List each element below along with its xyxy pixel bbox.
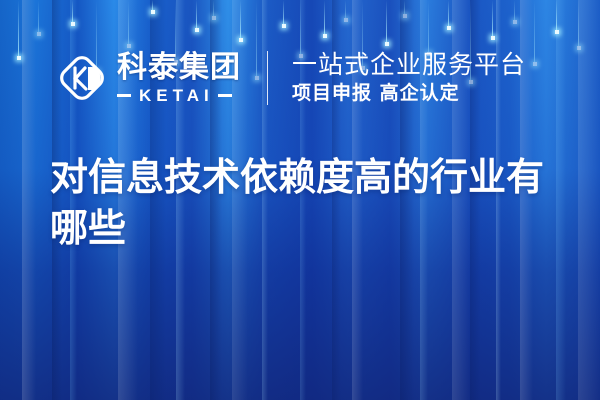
- brand-dash-left-icon: [117, 94, 131, 97]
- light-streak: [448, 0, 449, 28]
- brand-header: 科泰集团 KETAI 一站式企业服务平台 项目申报 高企认定: [56, 46, 526, 110]
- promo-banner: 科泰集团 KETAI 一站式企业服务平台 项目申报 高企认定 对信息技术依赖度高…: [0, 0, 600, 400]
- light-streak-dot: [403, 14, 407, 18]
- light-streak-dot: [344, 18, 348, 22]
- light-streak: [324, 0, 325, 36]
- tagline-secondary: 项目申报 高企认定: [292, 83, 526, 105]
- tagline-primary: 一站式企业服务平台: [292, 51, 526, 79]
- light-streak-dot: [282, 24, 286, 28]
- light-streak-dot: [239, 38, 243, 42]
- light-streak: [404, 0, 405, 16]
- light-streak: [213, 0, 214, 18]
- brand-dash-right-icon: [218, 94, 232, 97]
- page-title: 对信息技术依赖度高的行业有哪些: [50, 153, 562, 254]
- light-streak: [196, 0, 197, 30]
- light-streak-dot: [323, 34, 327, 38]
- light-streak-dot: [491, 36, 495, 40]
- light-streak: [345, 0, 346, 20]
- light-streak-dot: [555, 30, 559, 34]
- light-streak: [386, 0, 387, 44]
- light-streak-dot: [533, 62, 537, 66]
- light-streak: [514, 0, 515, 22]
- light-streak-dot: [513, 20, 517, 24]
- light-streak: [240, 0, 241, 40]
- light-streak: [556, 0, 557, 32]
- light-streak-dot: [212, 16, 216, 20]
- brand-text-block: 科泰集团 KETAI: [117, 53, 241, 104]
- light-streak-dot: [195, 28, 199, 32]
- ketai-emblem-icon: [56, 52, 108, 104]
- light-streak: [492, 0, 493, 38]
- light-streak-dot: [71, 22, 75, 26]
- light-streak-dot: [17, 56, 21, 60]
- light-streak-dot: [37, 32, 41, 36]
- light-streak-dot: [151, 10, 155, 14]
- brand-name-cn: 科泰集团: [117, 53, 241, 83]
- light-streak: [18, 0, 19, 58]
- light-streak: [578, 0, 579, 48]
- brand-name-en: KETAI: [137, 87, 214, 104]
- light-streak: [38, 0, 39, 34]
- header-divider: [267, 51, 268, 105]
- tagline-block: 一站式企业服务平台 项目申报 高企认定: [292, 51, 526, 105]
- light-streak-dot: [577, 46, 581, 50]
- light-streak: [128, 0, 129, 46]
- light-streak: [534, 0, 535, 64]
- brand-name-en-row: KETAI: [117, 87, 241, 104]
- light-streak: [72, 0, 73, 24]
- light-streak: [152, 0, 153, 12]
- light-streak: [283, 0, 284, 26]
- light-streak-dot: [447, 26, 451, 30]
